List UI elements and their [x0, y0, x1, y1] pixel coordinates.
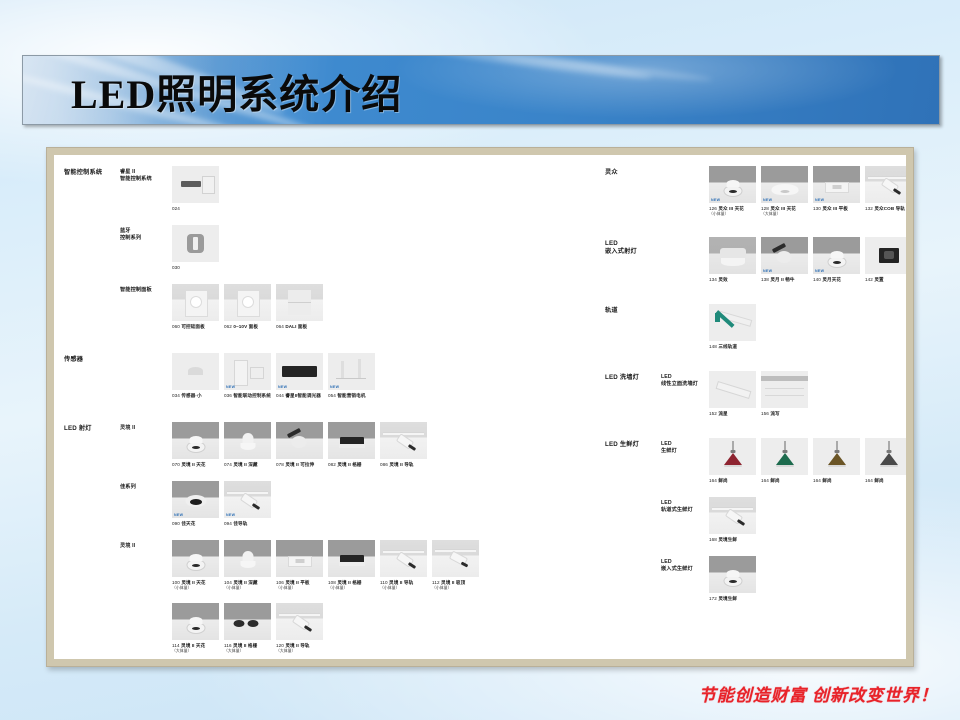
product-code: 128	[761, 206, 770, 211]
new-badge: NEW	[711, 198, 720, 202]
product-caption: 172 灵境生鲜	[709, 596, 756, 602]
product-caption: 070 灵境 II 天花	[172, 462, 219, 468]
fixture-art	[291, 436, 306, 448]
product-caption: 108 灵境 II 格栅（小体量）	[328, 580, 375, 591]
fixture-art	[408, 562, 416, 569]
product-item[interactable]: 152 流星	[709, 371, 756, 417]
product-thumbnail	[276, 422, 323, 459]
product-caption: 114 灵境 II 天花（大体量）	[172, 643, 219, 654]
product-caption: 074 灵境 II 深藏	[224, 462, 271, 468]
fixture-art	[242, 296, 254, 308]
product-caption: 168 灵境生鲜	[709, 537, 756, 543]
product-thumbnail	[380, 422, 427, 459]
new-badge: NEW	[815, 198, 824, 202]
catalog-group-title: LED 洗墙灯	[605, 374, 639, 382]
fixture-art	[234, 360, 248, 386]
catalog-group-title: 传感器	[64, 356, 83, 364]
product-item[interactable]: 064 DALI 面板	[276, 284, 323, 330]
fixture-art	[190, 296, 202, 308]
catalog-subgroup-title: 灵境 II	[120, 425, 135, 432]
product-item[interactable]: 104 灵境 II 深藏（小体量）	[224, 540, 271, 591]
product-code: 078	[276, 462, 285, 467]
product-thumbnail	[709, 237, 756, 274]
product-code: 030	[172, 265, 180, 270]
catalog-group-title: LED 嵌入式射灯	[605, 240, 637, 257]
product-row: 168 灵境生鲜	[709, 497, 756, 543]
product-name: 佳导轨	[233, 521, 247, 526]
catalog-subgroup-title: 智能控制面板	[120, 287, 152, 294]
product-name: 灵境 II 格栅	[337, 462, 361, 467]
product-thumbnail: NEW	[813, 166, 860, 203]
product-code: 172	[709, 596, 718, 601]
product-code: 110	[380, 580, 389, 585]
product-row: 024	[172, 166, 219, 212]
product-subnote: （大体量）	[276, 649, 323, 654]
product-code: 164	[865, 478, 874, 483]
fixture-art	[776, 465, 794, 467]
product-name: 鲜尚	[770, 478, 779, 483]
product-name: 鲜尚	[874, 478, 883, 483]
fixture-art	[880, 453, 898, 465]
product-thumbnail	[172, 353, 219, 390]
product-item[interactable]: NEW036 智能联动控制系统	[224, 353, 271, 399]
new-badge: NEW	[226, 513, 235, 517]
fixture-art	[765, 395, 804, 396]
fixture-art	[339, 562, 365, 566]
product-caption: 138 灵月 II 畅牛	[761, 277, 808, 283]
product-code: 060	[172, 324, 181, 329]
product-name: 灵境 II 导轨	[285, 643, 309, 648]
product-item[interactable]: 106 灵境 II 平板（小体量）	[276, 540, 323, 591]
product-name: 灵境生鲜	[718, 596, 737, 601]
product-caption: 036 智能联动控制系统	[224, 393, 271, 399]
fixture-art	[716, 381, 752, 399]
catalog-subgroup-title: 蓝牙 控制系列	[120, 228, 141, 243]
product-item[interactable]: NEW126 灵众 III 天花（小体量）	[709, 166, 756, 217]
product-caption: 094 佳导轨	[224, 521, 271, 527]
fixture-art	[282, 366, 317, 377]
product-item[interactable]: 030	[172, 225, 219, 271]
product-thumbnail	[709, 304, 756, 341]
product-name: 灵境生鲜	[718, 537, 737, 542]
product-thumbnail: NEW	[328, 353, 375, 390]
product-subnote: （大体量）	[761, 212, 808, 217]
product-item[interactable]: 168 灵境生鲜	[709, 497, 756, 543]
product-item[interactable]: NEW140 灵月天花	[813, 237, 860, 283]
product-caption: 024	[172, 206, 219, 212]
product-item[interactable]: 156 流写	[761, 371, 808, 417]
fixture-art	[189, 436, 202, 443]
fixture-art	[190, 499, 202, 505]
fixture-art	[884, 251, 894, 259]
product-name: 三线轨道	[718, 344, 737, 349]
product-caption: 130 灵众 III 平板	[813, 206, 860, 212]
product-name: 灵月天花	[822, 277, 841, 282]
product-name: 灵境 II 导轨	[389, 580, 413, 585]
product-code: 132	[865, 206, 874, 211]
catalog-subgroup-title: LED 嵌入式生鲜灯	[661, 559, 693, 574]
product-item[interactable]: 120 灵境 II 导轨（大体量）	[276, 603, 323, 654]
catalog-group-title: LED 射灯	[64, 425, 92, 433]
product-code: 134	[709, 277, 718, 282]
fixture-art	[202, 176, 215, 194]
product-subnote: （小体量）	[224, 586, 271, 591]
product-item[interactable]: NEW094 佳导轨	[224, 481, 271, 527]
product-thumbnail	[813, 438, 860, 475]
product-code: 086	[380, 462, 389, 467]
fixture-art	[880, 465, 898, 467]
product-caption: 060 可控硅面板	[172, 324, 219, 330]
product-row: NEW090 佳天花NEW094 佳导轨	[172, 481, 271, 527]
product-row: 164 鲜尚164 鲜尚164 鲜尚164 鲜尚	[709, 438, 906, 484]
product-name: 灵境 II 深藏	[233, 580, 257, 585]
product-thumbnail: NEW	[172, 481, 219, 518]
fixture-art	[726, 180, 739, 187]
cloud-wisp-icon	[493, 55, 713, 83]
fixture-art	[776, 251, 791, 263]
product-row: 070 灵境 II 天花074 灵境 II 深藏078 灵境 II 可拉伸082…	[172, 422, 427, 468]
product-code: 152	[709, 411, 718, 416]
product-item[interactable]: 062 0~10V 面板	[224, 284, 271, 330]
fixture-art	[192, 446, 200, 449]
product-item[interactable]: 078 灵境 II 可拉伸	[276, 422, 323, 468]
catalog-subgroup-title: LED 轨道式生鲜灯	[661, 500, 693, 515]
product-name: 鲜尚	[718, 478, 727, 483]
product-item[interactable]: 110 灵境 II 导轨（小体量）	[380, 540, 427, 591]
product-thumbnail	[865, 237, 906, 274]
product-thumbnail	[709, 371, 756, 408]
product-item[interactable]: 132 灵众COB 导轨	[865, 166, 906, 217]
product-caption: 034 传感器·小	[172, 393, 219, 399]
product-caption: 148 三线轨道	[709, 344, 756, 350]
product-code: 164	[813, 478, 822, 483]
fixture-art	[724, 453, 742, 465]
product-caption: 164 鲜尚	[813, 478, 860, 484]
product-caption: 126 灵众 III 天花（小体量）	[709, 206, 756, 217]
product-thumbnail	[865, 166, 906, 203]
product-row: 152 流星156 流写	[709, 371, 808, 417]
product-thumbnail	[865, 438, 906, 475]
product-thumbnail	[328, 422, 375, 459]
product-name: DALI 面板	[285, 324, 307, 329]
product-item[interactable]: NEW054 智能营销电机	[328, 353, 375, 399]
fixture-art	[240, 443, 255, 450]
product-code: 164	[761, 478, 770, 483]
product-caption: 134 灵效	[709, 277, 756, 283]
product-thumbnail: NEW	[761, 166, 808, 203]
product-row: 134 灵效NEW138 灵月 II 畅牛NEW140 灵月天花142 灵置	[709, 237, 906, 283]
product-item[interactable]: 142 灵置	[865, 237, 906, 283]
product-thumbnail: NEW	[224, 481, 271, 518]
product-caption: 078 灵境 II 可拉伸	[276, 462, 323, 468]
product-item[interactable]: 024	[172, 166, 219, 212]
product-caption: 082 灵境 II 格栅	[328, 462, 375, 468]
fixture-art	[893, 188, 901, 195]
product-item[interactable]: NEW044 睿星II智能调光器	[276, 353, 323, 399]
product-thumbnail	[709, 497, 756, 534]
product-item[interactable]: 100 灵境 II 天花（小体量）	[172, 540, 219, 591]
product-thumbnail	[224, 540, 271, 577]
product-caption: 062 0~10V 面板	[224, 324, 271, 330]
product-item[interactable]: 164 鲜尚	[865, 438, 906, 484]
product-code: 142	[865, 277, 874, 282]
product-thumbnail	[276, 603, 323, 640]
new-badge: NEW	[763, 198, 772, 202]
fixture-art	[189, 554, 202, 561]
product-code: 044	[276, 393, 285, 398]
product-name: 灵置	[874, 277, 883, 282]
product-caption: 128 灵众 III 天花（大体量）	[761, 206, 808, 217]
catalog-frame: 智能控制系统睿星 II 智能控制系统024蓝牙 控制系列030智能控制面板060…	[46, 147, 914, 667]
product-caption: 120 灵境 II 导轨（大体量）	[276, 643, 323, 654]
product-thumbnail	[224, 603, 271, 640]
product-item[interactable]: 060 可控硅面板	[172, 284, 219, 330]
product-row: NEW126 灵众 III 天花（小体量）NEW128 灵众 III 天花（大体…	[709, 166, 906, 217]
product-caption: 164 鲜尚	[865, 478, 906, 484]
product-item[interactable]: 074 灵境 II 深藏	[224, 422, 271, 468]
product-caption: 152 流星	[709, 411, 756, 417]
product-thumbnail	[709, 438, 756, 475]
fixture-art	[188, 367, 203, 375]
product-code: 112	[432, 580, 441, 585]
fixture-art	[832, 185, 841, 189]
product-item[interactable]: 114 灵境 II 天花（大体量）	[172, 603, 219, 654]
product-item[interactable]: 108 灵境 II 格栅（小体量）	[328, 540, 375, 591]
product-caption: 104 灵境 II 深藏（小体量）	[224, 580, 271, 591]
product-thumbnail	[172, 540, 219, 577]
product-name: 智能联动控制系统	[233, 393, 271, 398]
product-item[interactable]: NEW138 灵月 II 畅牛	[761, 237, 808, 283]
catalog-group-title: 灵众	[605, 169, 618, 177]
fixture-art	[288, 302, 311, 303]
product-caption: 090 佳天花	[172, 521, 219, 527]
page-title: LED照明系统介绍	[71, 62, 402, 120]
product-code: 168	[709, 537, 718, 542]
product-item[interactable]: 116 灵境 II 格栅（大体量）	[224, 603, 271, 654]
product-item[interactable]: 164 鲜尚	[813, 438, 860, 484]
product-caption: 142 灵置	[865, 277, 906, 283]
product-code: 156	[761, 411, 770, 416]
fixture-art	[240, 561, 255, 568]
product-thumbnail: NEW	[813, 237, 860, 274]
product-code: 126	[709, 206, 718, 211]
product-name: 灵境 II 天花	[181, 580, 205, 585]
product-row: 100 灵境 II 天花（小体量）104 灵境 II 深藏（小体量）106 灵境…	[172, 540, 479, 591]
new-badge: NEW	[763, 269, 772, 273]
fixture-art	[833, 261, 841, 264]
product-caption: 044 睿星II智能调光器	[276, 393, 323, 399]
product-code: 138	[761, 277, 770, 282]
catalog-group-title: 智能控制系统	[64, 169, 102, 177]
product-thumbnail	[276, 540, 323, 577]
product-name: 灵境 II 平板	[285, 580, 309, 585]
title-banner: LED照明系统介绍	[22, 55, 940, 125]
product-item[interactable]: 082 灵境 II 格栅	[328, 422, 375, 468]
fixture-art	[776, 453, 794, 465]
product-name: 灵境 II 导轨	[389, 462, 413, 467]
fixture-art	[339, 444, 365, 448]
product-code: 094	[224, 521, 233, 526]
product-code: 054	[328, 393, 337, 398]
product-caption: 030	[172, 265, 219, 271]
product-name: 流星	[718, 411, 727, 416]
product-caption: 132 灵众COB 导轨	[865, 206, 906, 212]
product-caption: 116 灵境 II 格栅（大体量）	[224, 643, 271, 654]
product-code: 070	[172, 462, 181, 467]
product-name: 灵月 II 畅牛	[770, 277, 794, 282]
product-item[interactable]: NEW130 灵众 III 平板	[813, 166, 860, 217]
fixture-art	[189, 617, 202, 624]
product-thumbnail	[172, 166, 219, 203]
fixture-art	[761, 376, 808, 381]
fixture-art	[252, 503, 260, 510]
product-name: 智能营销电机	[337, 393, 365, 398]
product-name: 灵境 II 格栅	[337, 580, 361, 585]
product-code: 130	[813, 206, 822, 211]
product-code: 148	[709, 344, 718, 349]
product-code: 140	[813, 277, 822, 282]
product-name: 可控硅面板	[181, 324, 204, 329]
product-item[interactable]: 164 鲜尚	[761, 438, 808, 484]
product-name: 灵境 II 可拉伸	[285, 462, 314, 467]
product-item[interactable]: 134 灵效	[709, 237, 756, 283]
fixture-art	[341, 361, 344, 378]
product-name: 灵境 II 吸顶	[441, 580, 465, 585]
product-name: 灵众 III 天花	[770, 206, 796, 211]
product-code: 036	[224, 393, 233, 398]
product-thumbnail	[432, 540, 479, 577]
product-row: 172 灵境生鲜	[709, 556, 756, 602]
fixture-art	[729, 190, 737, 193]
product-thumbnail	[761, 438, 808, 475]
catalog-subgroup-title: LED 生鲜灯	[661, 441, 677, 456]
product-code: 120	[276, 643, 285, 648]
product-subnote: （小体量）	[172, 586, 219, 591]
fixture-art	[358, 359, 361, 378]
product-thumbnail: NEW	[709, 166, 756, 203]
product-subnote: （小体量）	[328, 586, 375, 591]
product-code: 108	[328, 580, 337, 585]
product-item[interactable]: NEW090 佳天花	[172, 481, 219, 527]
product-code: 062	[224, 324, 233, 329]
product-item[interactable]: 086 灵境 II 导轨	[380, 422, 427, 468]
product-thumbnail	[224, 422, 271, 459]
new-badge: NEW	[278, 385, 287, 389]
fixture-art	[304, 625, 312, 632]
product-item[interactable]: 070 灵境 II 天花	[172, 422, 219, 468]
product-code: 074	[224, 462, 233, 467]
product-name: 鲜尚	[822, 478, 831, 483]
product-code: 064	[276, 324, 285, 329]
new-badge: NEW	[226, 385, 235, 389]
fixture-art	[295, 559, 304, 563]
product-name: 灵境 II 天花	[181, 462, 205, 467]
product-row: 148 三线轨道	[709, 304, 756, 350]
product-item[interactable]: 112 灵境 II 吸顶（小体量）	[432, 540, 479, 591]
footer-slogan: 节能创造财富 创新改变世界！	[699, 681, 938, 706]
product-item[interactable]: 172 灵境生鲜	[709, 556, 756, 602]
new-badge: NEW	[330, 385, 339, 389]
catalog-subgroup-title: 佳系列	[120, 484, 136, 491]
product-subnote: （大体量）	[224, 649, 271, 654]
product-item[interactable]: NEW128 灵众 III 天花（大体量）	[761, 166, 808, 217]
product-name: 传感器·小	[181, 393, 201, 398]
product-thumbnail	[380, 540, 427, 577]
product-caption: 140 灵月天花	[813, 277, 860, 283]
product-thumbnail	[276, 284, 323, 321]
fixture-art	[248, 620, 259, 627]
product-item[interactable]: 034 传感器·小	[172, 353, 219, 399]
product-code: 106	[276, 580, 285, 585]
product-thumbnail: NEW	[761, 237, 808, 274]
product-subnote: （小体量）	[432, 586, 479, 591]
fixture-art	[181, 181, 201, 187]
fixture-art	[737, 519, 745, 526]
product-thumbnail	[761, 371, 808, 408]
product-row: 034 传感器·小NEW036 智能联动控制系统NEW044 睿星II智能调光器…	[172, 353, 375, 399]
product-row: 060 可控硅面板062 0~10V 面板064 DALI 面板	[172, 284, 323, 330]
fixture-art	[408, 444, 416, 451]
product-caption: 106 灵境 II 平板（小体量）	[276, 580, 323, 591]
new-badge: NEW	[174, 513, 183, 517]
product-caption: 100 灵境 II 天花（小体量）	[172, 580, 219, 591]
catalog-sheet: 智能控制系统睿星 II 智能控制系统024蓝牙 控制系列030智能控制面板060…	[54, 155, 906, 659]
product-name: 佳天花	[181, 521, 195, 526]
product-caption: 156 流写	[761, 411, 808, 417]
product-code: 114	[172, 643, 181, 648]
product-caption: 110 灵境 II 导轨（小体量）	[380, 580, 427, 591]
fixture-art	[729, 580, 737, 583]
product-item[interactable]: 164 鲜尚	[709, 438, 756, 484]
product-code: 090	[172, 521, 181, 526]
product-code: 104	[224, 580, 233, 585]
fixture-art	[830, 251, 843, 258]
fixture-art	[192, 627, 200, 630]
fixture-art	[724, 465, 742, 467]
product-caption: 054 智能营销电机	[328, 393, 375, 399]
fixture-art	[193, 237, 198, 250]
fixture-art	[765, 388, 804, 389]
product-name: 灵众 III 天花	[718, 206, 744, 211]
catalog-subgroup-title: 灵境 II	[120, 543, 135, 550]
fixture-art	[726, 570, 739, 577]
fixture-art	[721, 258, 745, 266]
fixture-art	[715, 313, 720, 322]
product-item[interactable]: 148 三线轨道	[709, 304, 756, 350]
catalog-subgroup-title: 睿星 II 智能控制系统	[120, 169, 152, 184]
product-row: 030	[172, 225, 219, 271]
fixture-art	[192, 564, 200, 567]
product-subnote: （小体量）	[380, 586, 427, 591]
fixture-art	[828, 453, 846, 465]
product-name: 灵境 II 天花	[181, 643, 205, 648]
product-thumbnail: NEW	[276, 353, 323, 390]
product-name: 灵众COB 导轨	[874, 206, 905, 211]
product-subnote: （小体量）	[276, 586, 323, 591]
product-code: 082	[328, 462, 337, 467]
product-subnote: （小体量）	[709, 212, 756, 217]
product-thumbnail	[709, 556, 756, 593]
product-code: 034	[172, 393, 181, 398]
product-thumbnail	[224, 284, 271, 321]
fixture-art	[828, 465, 846, 467]
product-caption: 164 鲜尚	[709, 478, 756, 484]
product-name: 0~10V 面板	[233, 324, 258, 329]
product-thumbnail	[172, 422, 219, 459]
product-thumbnail	[172, 603, 219, 640]
product-code: 116	[224, 643, 233, 648]
fixture-art	[234, 620, 245, 627]
